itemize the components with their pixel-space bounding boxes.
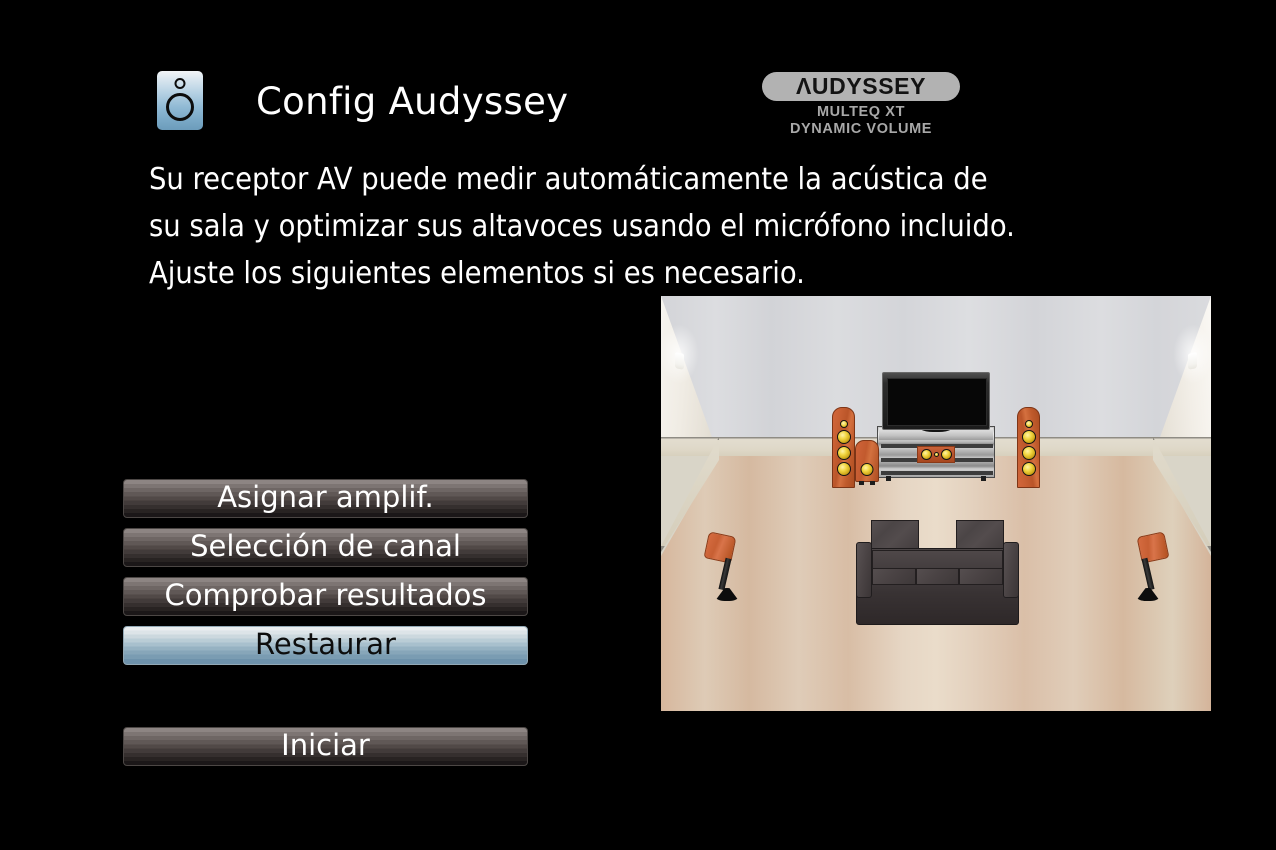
front-left-tower-speaker bbox=[832, 407, 855, 488]
subwoofer-driver bbox=[861, 463, 874, 476]
subwoofer-foot bbox=[859, 481, 864, 485]
speaker-driver bbox=[837, 430, 851, 444]
audyssey-dynamic-volume-text: DYNAMIC VOLUME bbox=[762, 121, 960, 137]
sofa-backrest bbox=[872, 550, 1003, 569]
description-text: Su receptor AV puede medir automáticamen… bbox=[149, 156, 1229, 297]
sofa-seat-row bbox=[872, 568, 1003, 585]
audyssey-logo-pill: ΛUDYSSEY bbox=[762, 72, 960, 101]
page-title: Config Audyssey bbox=[256, 80, 568, 123]
description-line-2: su sala y optimizar sus altavoces usando… bbox=[149, 203, 1229, 250]
menu-item-restore[interactable]: Restaurar bbox=[123, 626, 528, 665]
surround-speaker-stand bbox=[718, 558, 731, 591]
tv-stand-leg bbox=[981, 476, 986, 481]
speaker-driver bbox=[837, 462, 851, 476]
tv-stand-shelf-gap bbox=[881, 471, 993, 475]
menu-item-label: Selección de canal bbox=[190, 532, 461, 561]
sofa-armrest bbox=[856, 542, 872, 598]
setup-menu-list: Asignar amplif. Selección de canal Compr… bbox=[123, 479, 528, 675]
start-button-label: Iniciar bbox=[281, 731, 370, 760]
subwoofer bbox=[855, 440, 879, 482]
speaker-driver bbox=[941, 449, 952, 460]
speaker-driver bbox=[1022, 462, 1036, 476]
sofa-seat-cushion bbox=[872, 568, 916, 585]
audyssey-brand-text: ΛUDYSSEY bbox=[796, 75, 926, 98]
menu-item-amp-assign[interactable]: Asignar amplif. bbox=[123, 479, 528, 518]
sofa bbox=[856, 520, 1019, 625]
surround-right-speaker bbox=[1123, 534, 1169, 614]
surround-left-speaker bbox=[705, 534, 751, 614]
menu-item-label: Asignar amplif. bbox=[217, 483, 434, 512]
menu-item-check-results[interactable]: Comprobar resultados bbox=[123, 577, 528, 616]
speaker-tweeter-icon bbox=[175, 78, 186, 89]
speaker-driver bbox=[921, 449, 932, 460]
wall-sconce-right-icon bbox=[1188, 352, 1197, 370]
tower-driver-stack bbox=[1018, 420, 1039, 476]
speaker-tweeter bbox=[934, 452, 939, 457]
speaker-tweeter bbox=[840, 420, 848, 428]
surround-stand-base bbox=[715, 588, 739, 601]
surround-speaker-stand bbox=[1141, 558, 1154, 591]
audyssey-logo: ΛUDYSSEY MULTEQ XT DYNAMIC VOLUME bbox=[762, 72, 960, 137]
sofa-seat-cushion bbox=[916, 568, 960, 585]
speaker-layout-illustration bbox=[661, 296, 1211, 711]
menu-item-label: Comprobar resultados bbox=[164, 581, 486, 610]
tv-stand-leg bbox=[886, 476, 891, 481]
wall-sconce-left-icon bbox=[675, 352, 684, 370]
description-line-3: Ajuste los siguientes elementos si es ne… bbox=[149, 250, 1229, 297]
speaker-driver bbox=[837, 446, 851, 460]
speaker-woofer-icon bbox=[166, 93, 194, 121]
surround-stand-base bbox=[1136, 588, 1160, 601]
speaker-driver bbox=[1022, 446, 1036, 460]
screen-header: Config Audyssey ΛUDYSSEY MULTEQ XT DYNAM… bbox=[0, 0, 1276, 150]
description-line-1: Su receptor AV puede medir automáticamen… bbox=[149, 156, 1229, 203]
menu-item-label: Restaurar bbox=[255, 630, 396, 659]
speaker-tweeter bbox=[1025, 420, 1033, 428]
center-channel-speaker bbox=[917, 446, 955, 463]
start-button-container: Iniciar bbox=[123, 727, 528, 776]
television bbox=[882, 372, 990, 430]
start-button[interactable]: Iniciar bbox=[123, 727, 528, 766]
tower-driver-stack bbox=[833, 420, 854, 476]
menu-item-channel-select[interactable]: Selección de canal bbox=[123, 528, 528, 567]
tv-screen bbox=[887, 378, 987, 426]
subwoofer-foot bbox=[870, 481, 875, 485]
front-right-tower-speaker bbox=[1017, 407, 1040, 488]
speaker-driver bbox=[1022, 430, 1036, 444]
speaker-icon bbox=[157, 71, 203, 130]
audyssey-multeq-text: MULTEQ XT bbox=[762, 104, 960, 120]
sofa-seat-cushion bbox=[959, 568, 1003, 585]
sofa-armrest bbox=[1003, 542, 1019, 598]
